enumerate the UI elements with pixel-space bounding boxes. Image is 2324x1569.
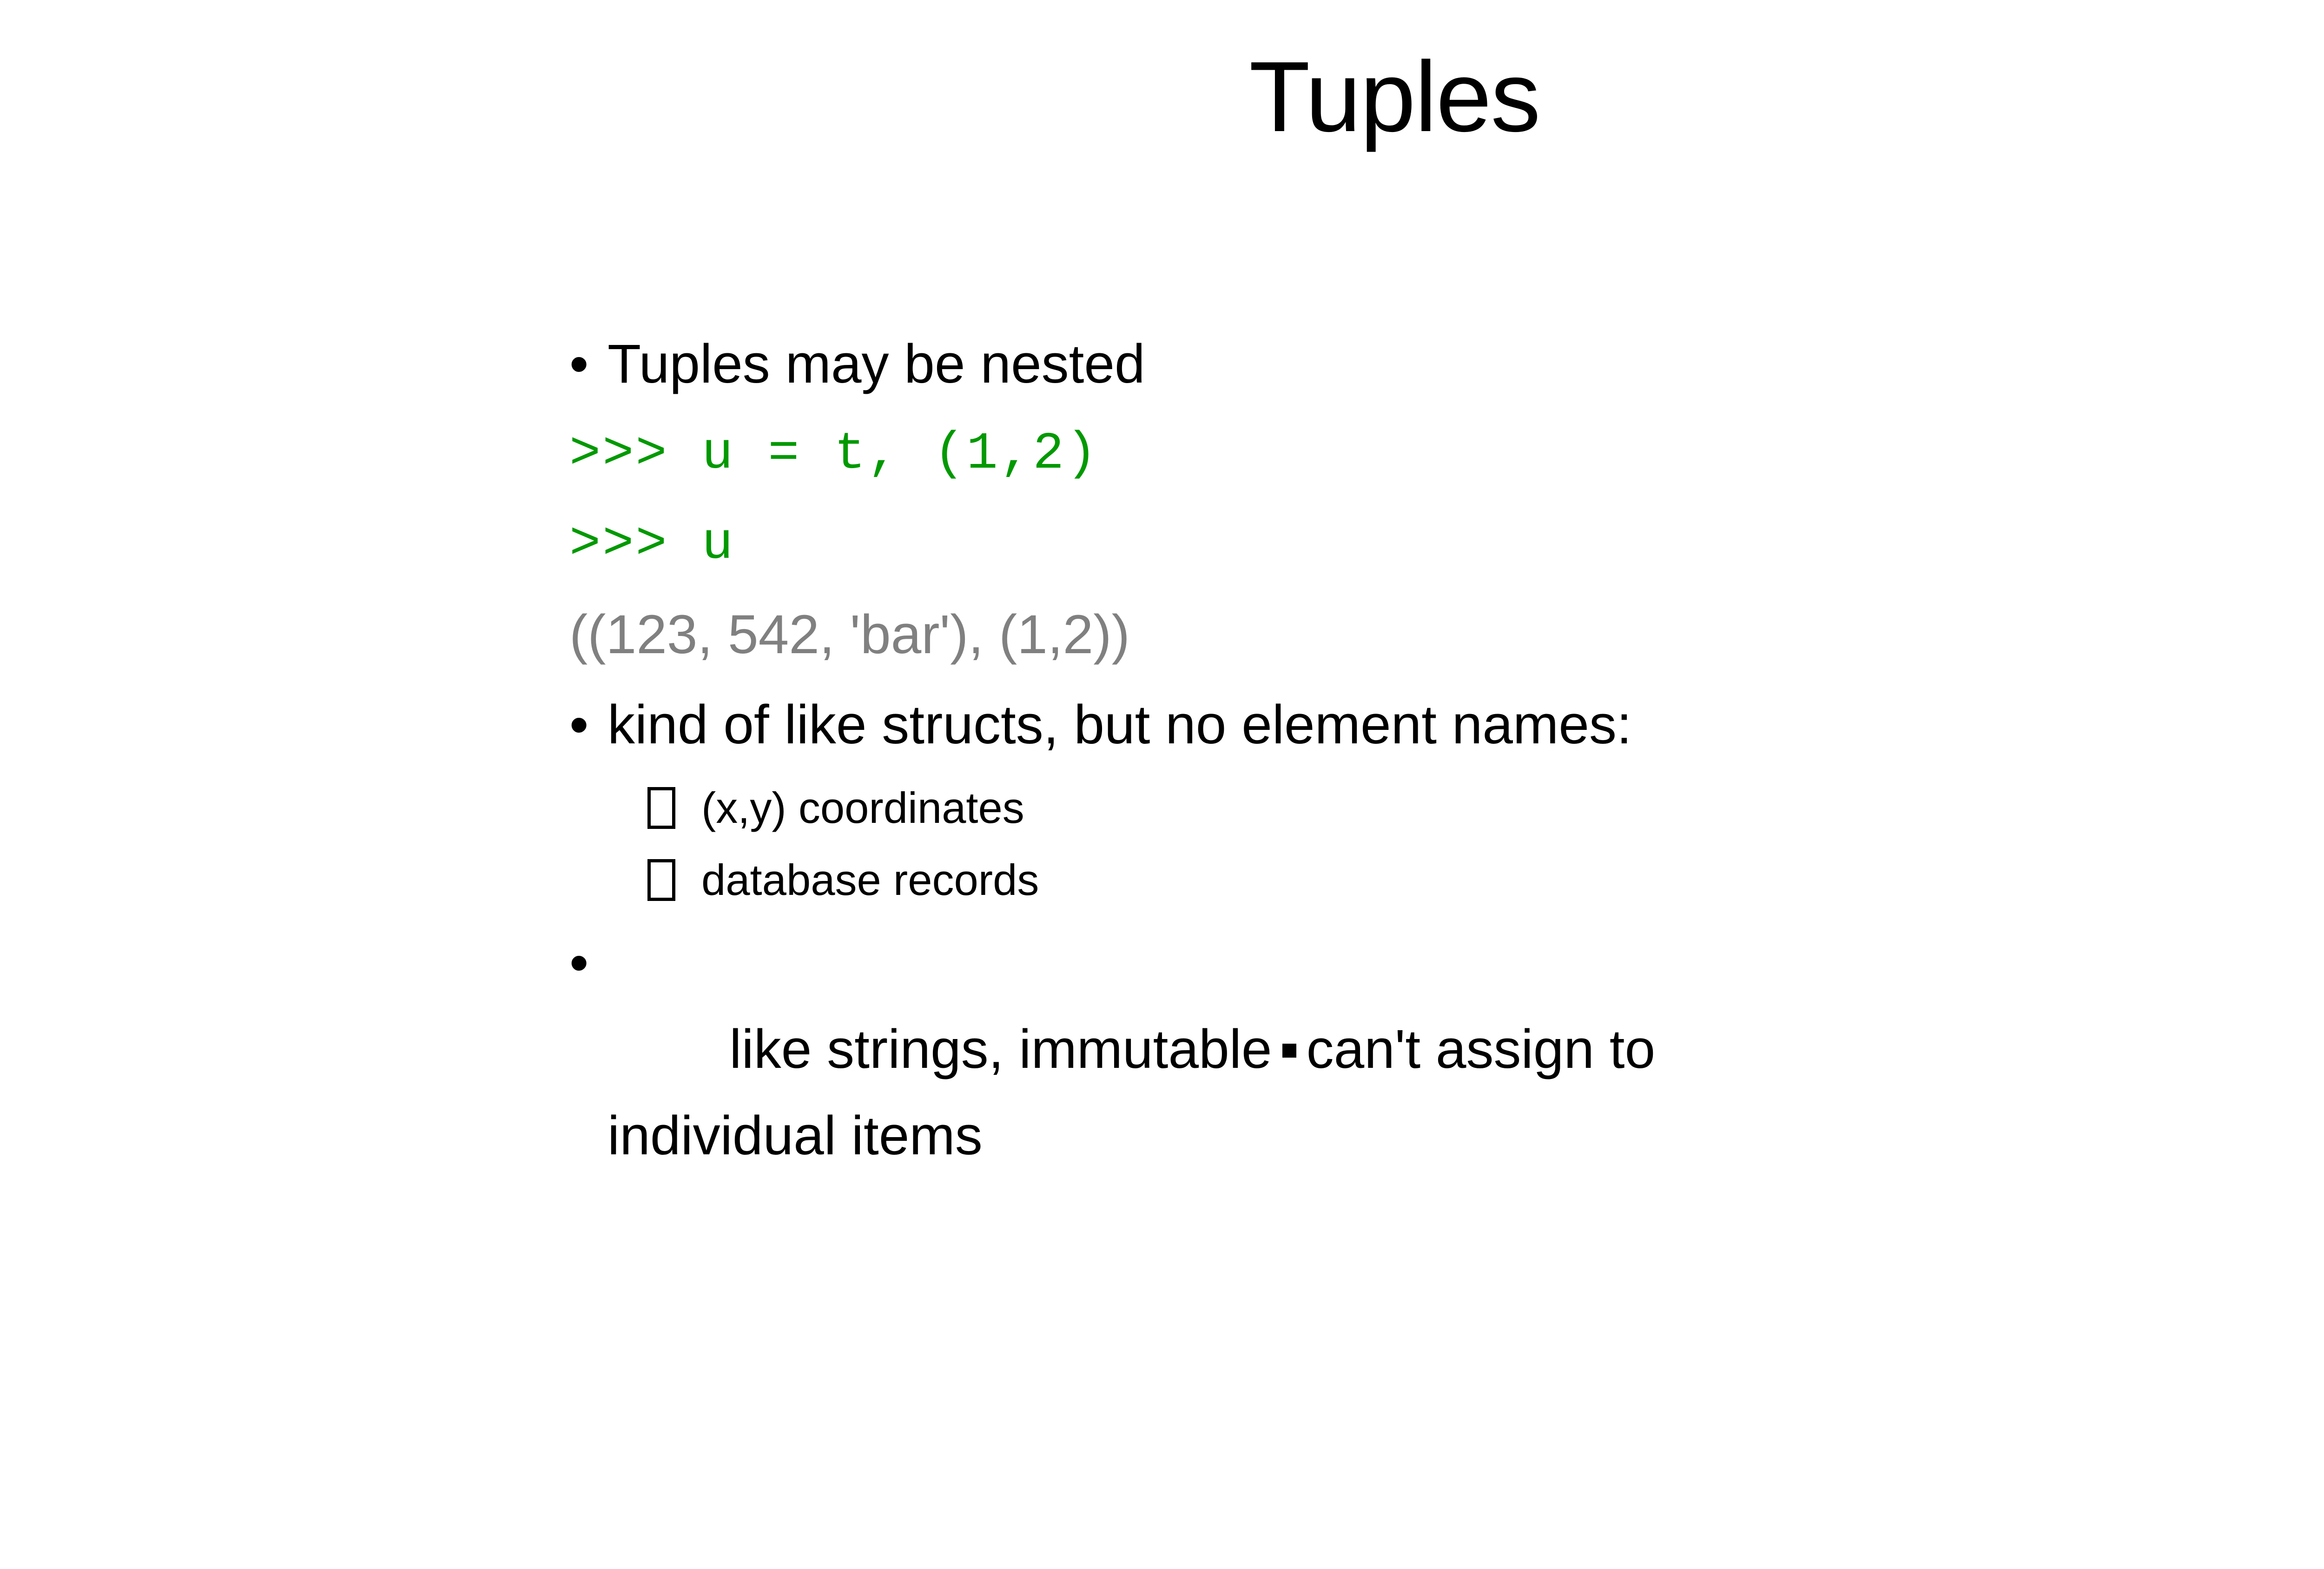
bullet-dot-icon: •: [569, 321, 607, 407]
bullet-dot-icon: •: [569, 920, 607, 1006]
tofu-box-icon: [647, 772, 701, 844]
code-line: >>> u: [569, 501, 2324, 588]
sub-bullet-label: (x,y) coordinates: [701, 772, 2324, 844]
bullet-label: Tuples may be nested: [607, 321, 2324, 407]
filled-square-separator-icon: [1282, 1044, 1296, 1058]
bullet-text-wrapped-line: individual items: [607, 1105, 983, 1166]
interpreter-output-text: ((123, 542, 'bar'), (1,2)): [569, 591, 1130, 678]
interpreter-output-line: ((123, 542, 'bar'), (1,2)): [569, 591, 2324, 678]
bullet-item: • Tuples may be nested: [569, 321, 2324, 407]
bullet-item: • kind of like structs, but no element n…: [569, 682, 2324, 768]
code-line-text: >>> u = t, (1,2): [569, 411, 1099, 497]
code-line: >>> u = t, (1,2): [569, 411, 2324, 497]
slide-body: • Tuples may be nested >>> u = t, (1,2) …: [569, 321, 2324, 1269]
sub-bullet-item: database records: [569, 844, 2324, 916]
bullet-label: kind of like structs, but no element nam…: [607, 682, 2324, 768]
code-line-text: >>> u: [569, 501, 735, 588]
tofu-box-icon: [647, 844, 701, 916]
bullet-item: • like strings, immutablecan't assign to…: [569, 920, 2324, 1265]
page-title: Tuples: [0, 42, 2324, 152]
slide-canvas: Tuples • Tuples may be nested >>> u = t,…: [0, 0, 2324, 1569]
bullet-dot-icon: •: [569, 682, 607, 768]
bullet-text-after-separator: can't assign to: [1307, 1019, 1656, 1080]
sub-bullet-label: database records: [701, 844, 2324, 916]
bullet-label: like strings, immutablecan't assign toin…: [607, 920, 2324, 1265]
sub-bullet-item: (x,y) coordinates: [569, 772, 2324, 844]
bullet-text-before-separator: like strings, immutable: [729, 1019, 1272, 1080]
